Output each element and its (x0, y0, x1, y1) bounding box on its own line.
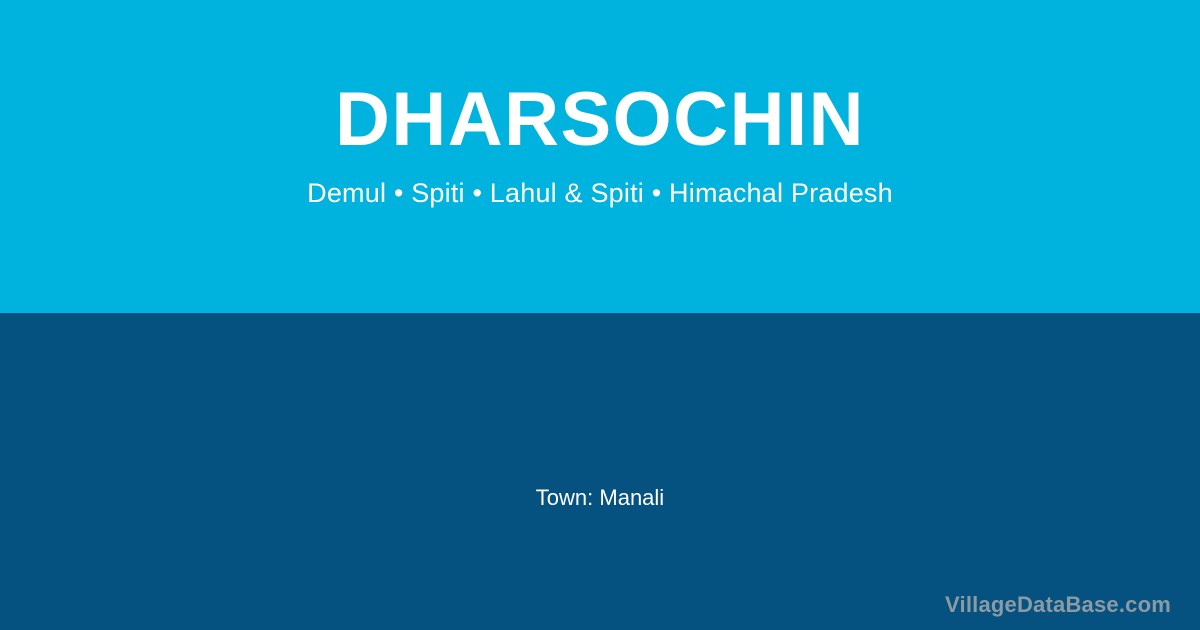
village-info-card: DHARSOCHIN Demul • Spiti • Lahul & Spiti… (0, 0, 1200, 630)
details-panel: Town: Manali VillageDataBase.com (0, 313, 1200, 630)
breadcrumb: Demul • Spiti • Lahul & Spiti • Himachal… (307, 179, 893, 209)
nearest-town-label: Town: Manali (0, 487, 1200, 509)
site-watermark: VillageDataBase.com (945, 594, 1171, 616)
page-title: DHARSOCHIN (335, 82, 865, 158)
hero-banner: DHARSOCHIN Demul • Spiti • Lahul & Spiti… (0, 0, 1200, 313)
